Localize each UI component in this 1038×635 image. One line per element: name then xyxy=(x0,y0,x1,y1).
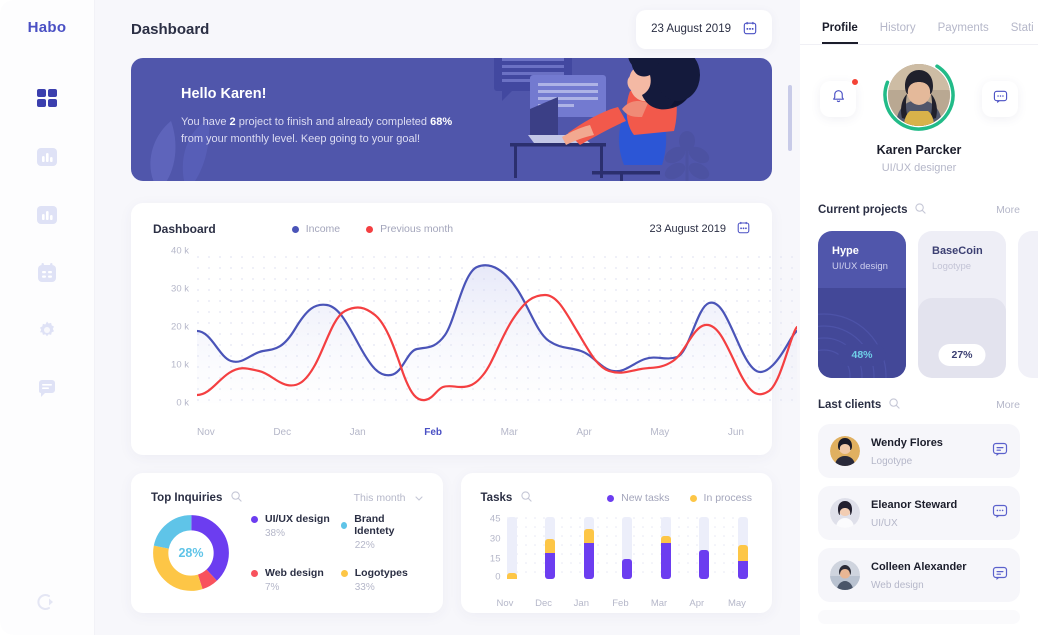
tasks-x-tick-apr: Apr xyxy=(689,598,699,609)
bottom-card-row: Top Inquiries This month xyxy=(131,473,772,613)
sidebar-nav xyxy=(34,86,60,402)
profile-role: UI/UX designer xyxy=(800,162,1038,174)
inquiries-header: Top Inquiries This month xyxy=(151,489,423,507)
search-icon[interactable] xyxy=(521,489,532,507)
date-picker[interactable]: 23 August 2019 xyxy=(636,10,772,49)
profile-section: Karen Parcker UI/UX designer xyxy=(800,45,1038,195)
y-tick-40k: 40 k xyxy=(171,246,189,257)
bar-chart-icon xyxy=(36,146,58,168)
chart-title: Dashboard xyxy=(153,222,216,236)
chart-date-value: 23 August 2019 xyxy=(650,223,726,235)
sidebar: Habo xyxy=(0,0,95,635)
tab-history[interactable]: History xyxy=(880,22,916,44)
x-axis-labels: Nov Dec Jan Feb Mar Apr May Jun xyxy=(197,427,744,438)
x-tick-nov: Nov xyxy=(197,427,215,438)
task-bar-jan[interactable] xyxy=(584,517,594,579)
sidebar-item-dashboard[interactable] xyxy=(34,86,60,112)
y-tick-10k: 10 k xyxy=(171,360,189,371)
logout-icon xyxy=(37,599,57,616)
tasks-x-tick-dec: Dec xyxy=(535,598,545,609)
topbar: Dashboard 23 August 2019 xyxy=(95,0,800,58)
inquiry-item-brand-identity: Brand Identety 22% xyxy=(341,513,423,551)
inquiry-label-uiux: UI/UX design xyxy=(265,513,330,525)
sidebar-item-messages[interactable] xyxy=(34,376,60,402)
tasks-x-tick-nov: Nov xyxy=(497,598,507,609)
project-type: UI/UX design xyxy=(832,261,888,272)
legend-label-previous-month: Previous month xyxy=(380,223,453,235)
tasks-bars xyxy=(507,517,749,579)
tasks-x-tick-feb: Feb xyxy=(612,598,622,609)
client-name: Wendy Flores xyxy=(871,437,943,449)
project-progress-badge: 48% xyxy=(838,344,885,366)
x-tick-may: May xyxy=(650,427,669,438)
x-tick-jun: Jun xyxy=(728,427,744,438)
inquiry-pct-web-design: 7% xyxy=(251,582,333,593)
tasks-y-tick-45: 45 xyxy=(490,514,501,525)
inquiries-donut-chart: 28% xyxy=(151,513,231,593)
main-content: Dashboard 23 August 2019 xyxy=(95,0,800,635)
inquiry-dot-web-design xyxy=(251,570,258,577)
calendar-icon xyxy=(743,21,757,38)
tasks-x-axis: Nov Dec Jan Feb Mar Apr May xyxy=(507,598,749,609)
bar-segment-new-tasks xyxy=(622,559,632,579)
inquiry-item-web-design: Web design 7% xyxy=(251,567,333,593)
content-area: Hello Karen! You have 2 project to finis… xyxy=(95,58,800,613)
project-card-next-partial[interactable] xyxy=(1018,231,1038,378)
legend-dot-income xyxy=(292,226,299,233)
legend-dot-new-tasks xyxy=(607,495,614,502)
inquiry-label-web-design: Web design xyxy=(265,567,324,579)
message-icon[interactable] xyxy=(992,503,1008,524)
inquiry-label-logotypes: Logotypes xyxy=(355,567,408,579)
profile-name: Karen Parcker xyxy=(800,143,1038,157)
inquiries-center-value: 28% xyxy=(151,513,231,593)
tasks-y-tick-0: 0 xyxy=(495,572,500,583)
project-progress-badge: 27% xyxy=(938,344,985,366)
y-axis-labels: 40 k 30 k 20 k 10 k 0 k xyxy=(153,245,189,405)
bar-segment-in-process xyxy=(507,573,517,579)
current-projects-title: Current projects xyxy=(818,204,907,216)
sidebar-item-reports[interactable] xyxy=(34,202,60,228)
legend-item-previous-month: Previous month xyxy=(366,223,453,235)
income-chart-card: Dashboard Income Previous month 23 Augus… xyxy=(131,203,772,455)
client-row-partial[interactable] xyxy=(818,610,1020,624)
tab-profile[interactable]: Profile xyxy=(822,22,858,44)
hero-text: Hello Karen! You have 2 project to finis… xyxy=(131,58,531,148)
client-name: Eleanor Steward xyxy=(871,499,957,511)
tasks-y-axis: 45 30 15 0 xyxy=(481,517,501,579)
bar-segment-in-process xyxy=(661,536,671,543)
avatar xyxy=(830,436,860,466)
notifications-button[interactable] xyxy=(820,81,856,117)
task-bar-apr[interactable] xyxy=(699,517,709,579)
inquiry-pct-uiux: 38% xyxy=(251,528,333,539)
client-role: Logotype xyxy=(871,456,912,467)
bar-segment-new-tasks xyxy=(545,553,555,579)
inquiry-item-logotypes: Logotypes 33% xyxy=(341,567,423,593)
legend-item-new-tasks: New tasks xyxy=(607,492,669,504)
project-card-basecoin[interactable]: BaseCoin Logotype 27% xyxy=(918,231,1006,378)
chart-legend: Income Previous month xyxy=(292,223,453,235)
bar-segment-new-tasks xyxy=(661,543,671,579)
tasks-y-tick-30: 30 xyxy=(490,534,501,545)
hero-greeting: Hello Karen! xyxy=(181,86,531,102)
calendar-icon xyxy=(36,262,58,284)
task-bar-feb[interactable] xyxy=(622,517,632,579)
tab-statistics[interactable]: Stati xyxy=(1011,22,1034,44)
avatar xyxy=(830,560,860,590)
bar-segment-new-tasks xyxy=(738,561,748,579)
tasks-legend: New tasks In process xyxy=(607,492,752,504)
chart-card-header: Dashboard Income Previous month 23 Augus… xyxy=(153,221,750,237)
message-icon[interactable] xyxy=(992,441,1008,462)
project-name: Hype xyxy=(832,245,859,257)
chat-icon xyxy=(36,378,58,400)
search-icon[interactable] xyxy=(889,396,900,414)
tab-payments[interactable]: Payments xyxy=(938,22,989,44)
client-name: Colleen Alexander xyxy=(871,561,967,573)
inquiry-dot-logotypes xyxy=(341,570,348,577)
legend-dot-previous-month xyxy=(366,226,373,233)
hero-completion-pct: 68% xyxy=(430,116,452,128)
chart-date-picker[interactable]: 23 August 2019 xyxy=(650,221,750,237)
message-icon[interactable] xyxy=(992,565,1008,586)
tasks-x-tick-may: May xyxy=(728,598,738,609)
tasks-x-tick-jan: Jan xyxy=(574,598,584,609)
hero-message: You have 2 project to finish and already… xyxy=(181,114,531,148)
legend-label-income: Income xyxy=(306,223,340,235)
logout-button[interactable] xyxy=(37,592,57,617)
hero-banner: Hello Karen! You have 2 project to finis… xyxy=(131,58,772,181)
task-bar-dec[interactable] xyxy=(545,517,555,579)
inquiry-label-brand-identity: Brand Identety xyxy=(354,513,422,537)
client-role: UI/UX xyxy=(871,518,898,529)
current-projects-list: Hype UI/UX design 48% BaseCoin Logotype … xyxy=(800,219,1038,378)
avatar xyxy=(830,498,860,528)
sidebar-item-settings[interactable] xyxy=(34,318,60,344)
client-row-wendy-flores[interactable]: Wendy Flores Logotype xyxy=(818,424,1020,478)
gear-icon xyxy=(36,320,58,342)
last-clients-list: Wendy Flores Logotype Eleanor Steward UI… xyxy=(800,414,1038,624)
inquiries-period-value: This month xyxy=(354,492,406,504)
tasks-x-tick-mar: Mar xyxy=(651,598,661,609)
line-plot: 40 k 30 k 20 k 10 k 0 k xyxy=(153,245,750,440)
bar-segment-in-process xyxy=(738,545,748,561)
x-tick-feb: Feb xyxy=(424,427,442,438)
hero-line2: from your monthly level. Keep going to y… xyxy=(181,133,420,145)
current-projects-more-link[interactable]: More xyxy=(996,204,1020,216)
dashboard-app: Habo xyxy=(0,0,1038,635)
tasks-header: Tasks New tasks In process xyxy=(481,489,753,507)
avatar-progress-ring xyxy=(882,58,956,132)
search-icon[interactable] xyxy=(231,489,242,507)
x-tick-dec: Dec xyxy=(273,427,291,438)
x-tick-mar: Mar xyxy=(501,427,518,438)
inquiries-body: 28% UI/UX design 38% xyxy=(151,513,423,593)
right-panel: Profile History Payments Stati xyxy=(800,0,1038,635)
notification-badge xyxy=(851,78,859,86)
inquiries-period-select[interactable]: This month xyxy=(354,492,423,504)
last-clients-title: Last clients xyxy=(818,399,881,411)
bar-segment-in-process xyxy=(584,529,594,543)
project-type: Logotype xyxy=(932,261,971,272)
app-logo[interactable]: Habo xyxy=(28,19,67,36)
legend-item-in-process: In process xyxy=(690,492,752,504)
chevron-down-icon xyxy=(415,492,423,504)
bar-segment-in-process xyxy=(545,539,555,553)
x-tick-jan: Jan xyxy=(350,427,366,438)
client-role: Web design xyxy=(871,580,924,591)
legend-label-new-tasks: New tasks xyxy=(621,492,669,504)
inquiry-pct-logotypes: 33% xyxy=(341,582,423,593)
tasks-card: Tasks New tasks In process xyxy=(461,473,773,613)
chat-icon xyxy=(993,89,1008,109)
task-bar-may[interactable] xyxy=(738,517,748,579)
bar-segment-new-tasks xyxy=(584,543,594,579)
inquiry-dot-brand-identity xyxy=(341,522,348,529)
legend-item-income: Income xyxy=(292,223,340,235)
search-icon[interactable] xyxy=(915,201,926,219)
page-title: Dashboard xyxy=(131,21,209,38)
inquiries-legend: UI/UX design 38% Brand Identety 22% xyxy=(251,513,423,593)
y-tick-0k: 0 k xyxy=(176,398,189,409)
message-button[interactable] xyxy=(982,81,1018,117)
task-bar-mar[interactable] xyxy=(661,517,671,579)
top-inquiries-card: Top Inquiries This month xyxy=(131,473,443,613)
calendar-icon xyxy=(737,221,750,237)
current-projects-header: Current projects More xyxy=(800,201,1038,219)
tasks-bar-chart: 45 30 15 0 xyxy=(481,517,753,609)
profile-tabs: Profile History Payments Stati xyxy=(800,0,1038,44)
hero-line1-b: project to finish and already completed xyxy=(236,116,430,128)
last-clients-more-link[interactable]: More xyxy=(996,399,1020,411)
bell-icon xyxy=(831,89,846,109)
avatar[interactable] xyxy=(888,64,950,126)
tasks-y-tick-15: 15 xyxy=(490,554,501,565)
grid-icon xyxy=(36,88,58,110)
bar-track xyxy=(507,517,517,579)
sidebar-item-analytics[interactable] xyxy=(34,144,60,170)
project-name: BaseCoin xyxy=(932,245,983,257)
hero-line1-a: You have xyxy=(181,116,230,128)
inquiry-pct-brand-identity: 22% xyxy=(341,540,423,551)
client-row-eleanor-steward[interactable]: Eleanor Steward UI/UX xyxy=(818,486,1020,540)
project-card-hype[interactable]: Hype UI/UX design 48% xyxy=(818,231,906,378)
y-tick-30k: 30 k xyxy=(171,284,189,295)
inquiries-title: Top Inquiries xyxy=(151,492,222,504)
date-picker-value: 23 August 2019 xyxy=(651,23,731,35)
inquiry-item-uiux: UI/UX design 38% xyxy=(251,513,333,551)
legend-dot-in-process xyxy=(690,495,697,502)
inquiry-dot-uiux xyxy=(251,516,258,523)
bar-chart-icon xyxy=(36,204,58,226)
task-bar-nov[interactable] xyxy=(507,517,517,579)
x-tick-apr: Apr xyxy=(576,427,592,438)
bar-segment-new-tasks xyxy=(699,550,709,579)
sidebar-item-calendar[interactable] xyxy=(34,260,60,286)
last-clients-header: Last clients More xyxy=(800,396,1038,414)
legend-label-in-process: In process xyxy=(704,492,752,504)
tasks-title: Tasks xyxy=(481,492,513,504)
y-tick-20k: 20 k xyxy=(171,322,189,333)
line-chart-svg xyxy=(197,245,797,413)
client-row-colleen-alexander[interactable]: Colleen Alexander Web design xyxy=(818,548,1020,602)
